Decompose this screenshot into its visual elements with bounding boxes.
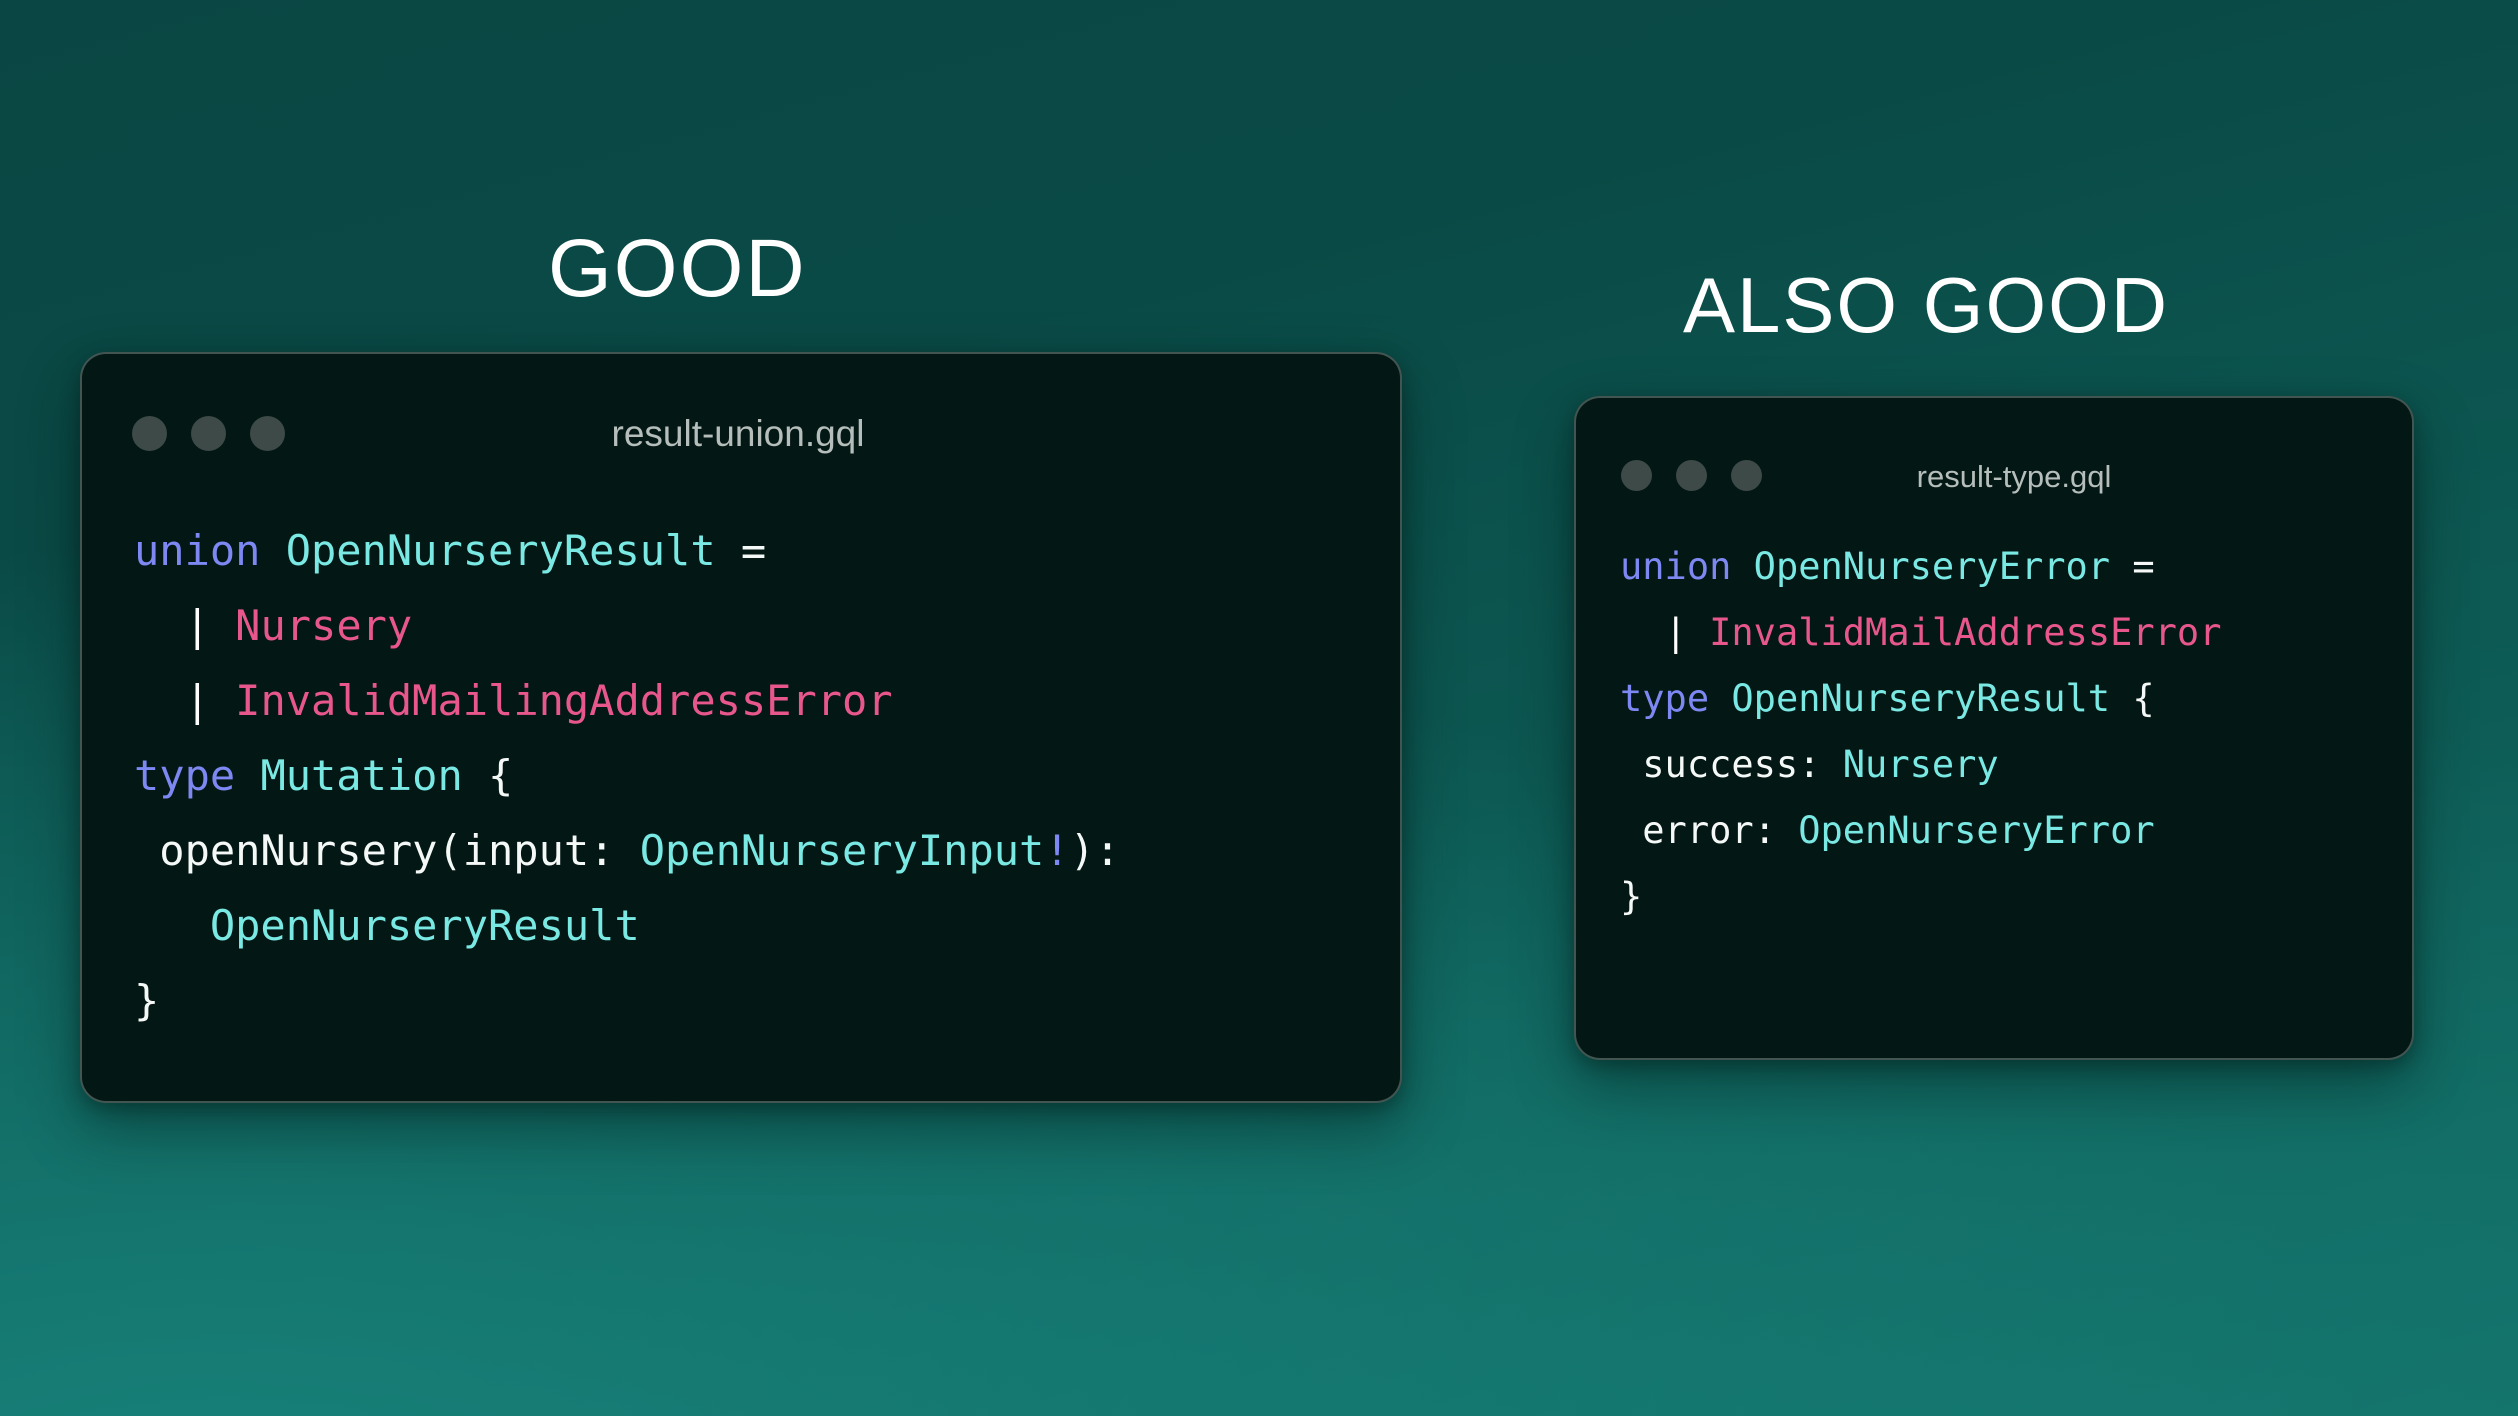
code-line: } xyxy=(134,963,1120,1038)
code-token-plain: { xyxy=(2110,677,2155,720)
filename-label-also-good: result-type.gql xyxy=(1576,460,2412,494)
code-line: } xyxy=(1620,864,2221,930)
code-token-plain xyxy=(1731,545,1753,588)
code-token-pipe: | xyxy=(185,601,210,650)
code-token-type: OpenNurseryError xyxy=(1798,809,2154,852)
code-token-plain xyxy=(134,676,185,725)
code-line: openNursery(input: OpenNurseryInput!): xyxy=(134,813,1120,888)
code-token-keyword: type xyxy=(1620,677,1709,720)
code-token-type: Nursery xyxy=(1843,743,1999,786)
code-line: success: Nursery xyxy=(1620,732,2221,798)
panel-heading-also-good: ALSO GOOD xyxy=(1683,265,2169,345)
code-token-plain xyxy=(260,526,285,575)
code-token-keyword: union xyxy=(134,526,260,575)
code-token-type: OpenNurseryResult xyxy=(286,526,716,575)
code-token-pipe: | xyxy=(185,676,210,725)
code-line: | Nursery xyxy=(134,588,1120,663)
code-token-keyword: ! xyxy=(1044,826,1069,875)
code-token-keyword: type xyxy=(134,751,235,800)
code-token-type: Mutation xyxy=(260,751,462,800)
slide-canvas: GOOD result-union.gql union OpenNurseryR… xyxy=(0,0,2518,1416)
code-token-plain: ): xyxy=(1070,826,1121,875)
code-token-plain xyxy=(134,901,210,950)
code-token-plain xyxy=(210,676,235,725)
filename-label-good: result-union.gql xyxy=(82,414,1400,454)
code-line: error: OpenNurseryError xyxy=(1620,798,2221,864)
code-token-type: OpenNurseryResult xyxy=(210,901,640,950)
code-token-plain xyxy=(134,601,185,650)
code-token-keyword: union xyxy=(1620,545,1731,588)
code-token-plain: error: xyxy=(1620,809,1798,852)
code-token-plain xyxy=(235,751,260,800)
code-block-also-good: union OpenNurseryError = | InvalidMailAd… xyxy=(1620,534,2221,930)
code-line: type Mutation { xyxy=(134,738,1120,813)
code-line: | InvalidMailAddressError xyxy=(1620,600,2221,666)
code-token-type: OpenNurseryResult xyxy=(1731,677,2110,720)
code-token-plain xyxy=(1709,677,1731,720)
code-line: OpenNurseryResult xyxy=(134,888,1120,963)
code-token-plain: } xyxy=(1620,875,1642,918)
code-token-plain xyxy=(210,601,235,650)
code-token-plain: { xyxy=(463,751,514,800)
code-token-plain: = xyxy=(2110,545,2155,588)
code-block-good: union OpenNurseryResult = | Nursery | In… xyxy=(134,513,1120,1038)
code-line: union OpenNurseryResult = xyxy=(134,513,1120,588)
panel-heading-good: GOOD xyxy=(548,227,807,311)
code-line: | InvalidMailingAddressError xyxy=(134,663,1120,738)
code-token-plain xyxy=(1620,611,1665,654)
code-token-plain xyxy=(1687,611,1709,654)
code-token-error_type: Nursery xyxy=(235,601,412,650)
code-token-plain: success: xyxy=(1620,743,1843,786)
code-token-pipe: | xyxy=(1665,611,1687,654)
code-token-plain: openNursery(input: xyxy=(134,826,640,875)
code-token-type: OpenNurseryInput xyxy=(640,826,1045,875)
code-line: union OpenNurseryError = xyxy=(1620,534,2221,600)
code-token-plain: } xyxy=(134,976,159,1025)
code-line: type OpenNurseryResult { xyxy=(1620,666,2221,732)
code-token-plain: = xyxy=(716,526,767,575)
code-token-error_type: InvalidMailingAddressError xyxy=(235,676,892,725)
code-token-error_type: InvalidMailAddressError xyxy=(1709,611,2221,654)
code-token-type: OpenNurseryError xyxy=(1754,545,2110,588)
